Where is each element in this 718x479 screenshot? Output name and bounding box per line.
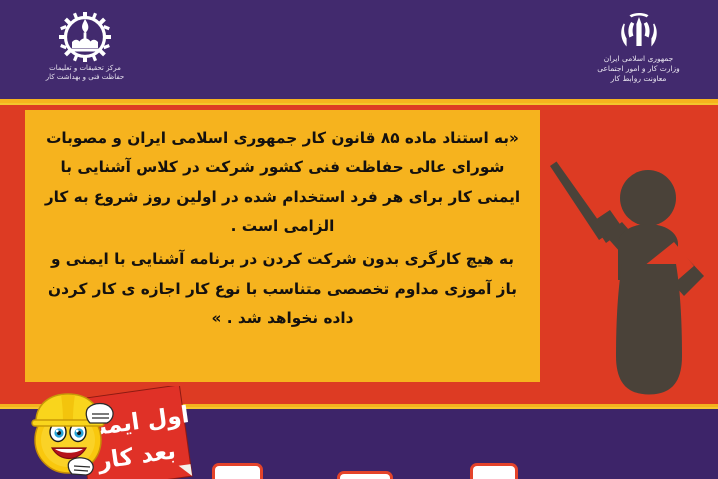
legal-quote-card: «به استناد ماده ۸۵ قانون کار جمهوری اسلا… <box>25 110 540 382</box>
header-bar: مرکز تحقیقات و تعلیمات حفاظت فنی و بهداش… <box>0 0 718 99</box>
right-logo-caption-line3: معاونت روابط کار <box>581 74 696 84</box>
bottom-card-2[interactable] <box>337 471 393 479</box>
safety-smiley-mascot-icon: اول ایمنی بعد کار <box>14 386 199 479</box>
quote-paragraph-1: «به استناد ماده ۸۵ قانون کار جمهوری اسلا… <box>43 124 522 241</box>
quote-paragraph-2: به هیچ کارگری بدون شرکت کردن در برنامه آ… <box>43 245 522 333</box>
right-logo-caption-line1: جمهوری اسلامی ایران <box>581 54 696 64</box>
left-logo-caption-line2: حفاظت فنی و بهداشت کار <box>30 73 140 82</box>
iran-national-emblem-icon <box>616 8 662 52</box>
right-ministry-logo: جمهوری اسلامی ایران وزارت کار و امور اجت… <box>581 8 696 96</box>
left-logo-caption-line1: مرکز تحقیقات و تعلیمات <box>30 64 140 73</box>
slide-root: مرکز تحقیقات و تعلیمات حفاظت فنی و بهداش… <box>0 0 718 479</box>
left-organization-logo: مرکز تحقیقات و تعلیمات حفاظت فنی و بهداش… <box>30 12 140 96</box>
gear-flame-emblem-icon <box>59 12 111 62</box>
bottom-card-3[interactable] <box>470 463 518 479</box>
teacher-with-pointer-icon <box>548 160 708 404</box>
bottom-card-1[interactable] <box>212 463 263 479</box>
right-logo-caption-line2: وزارت کار و امور اجتماعی <box>581 64 696 74</box>
